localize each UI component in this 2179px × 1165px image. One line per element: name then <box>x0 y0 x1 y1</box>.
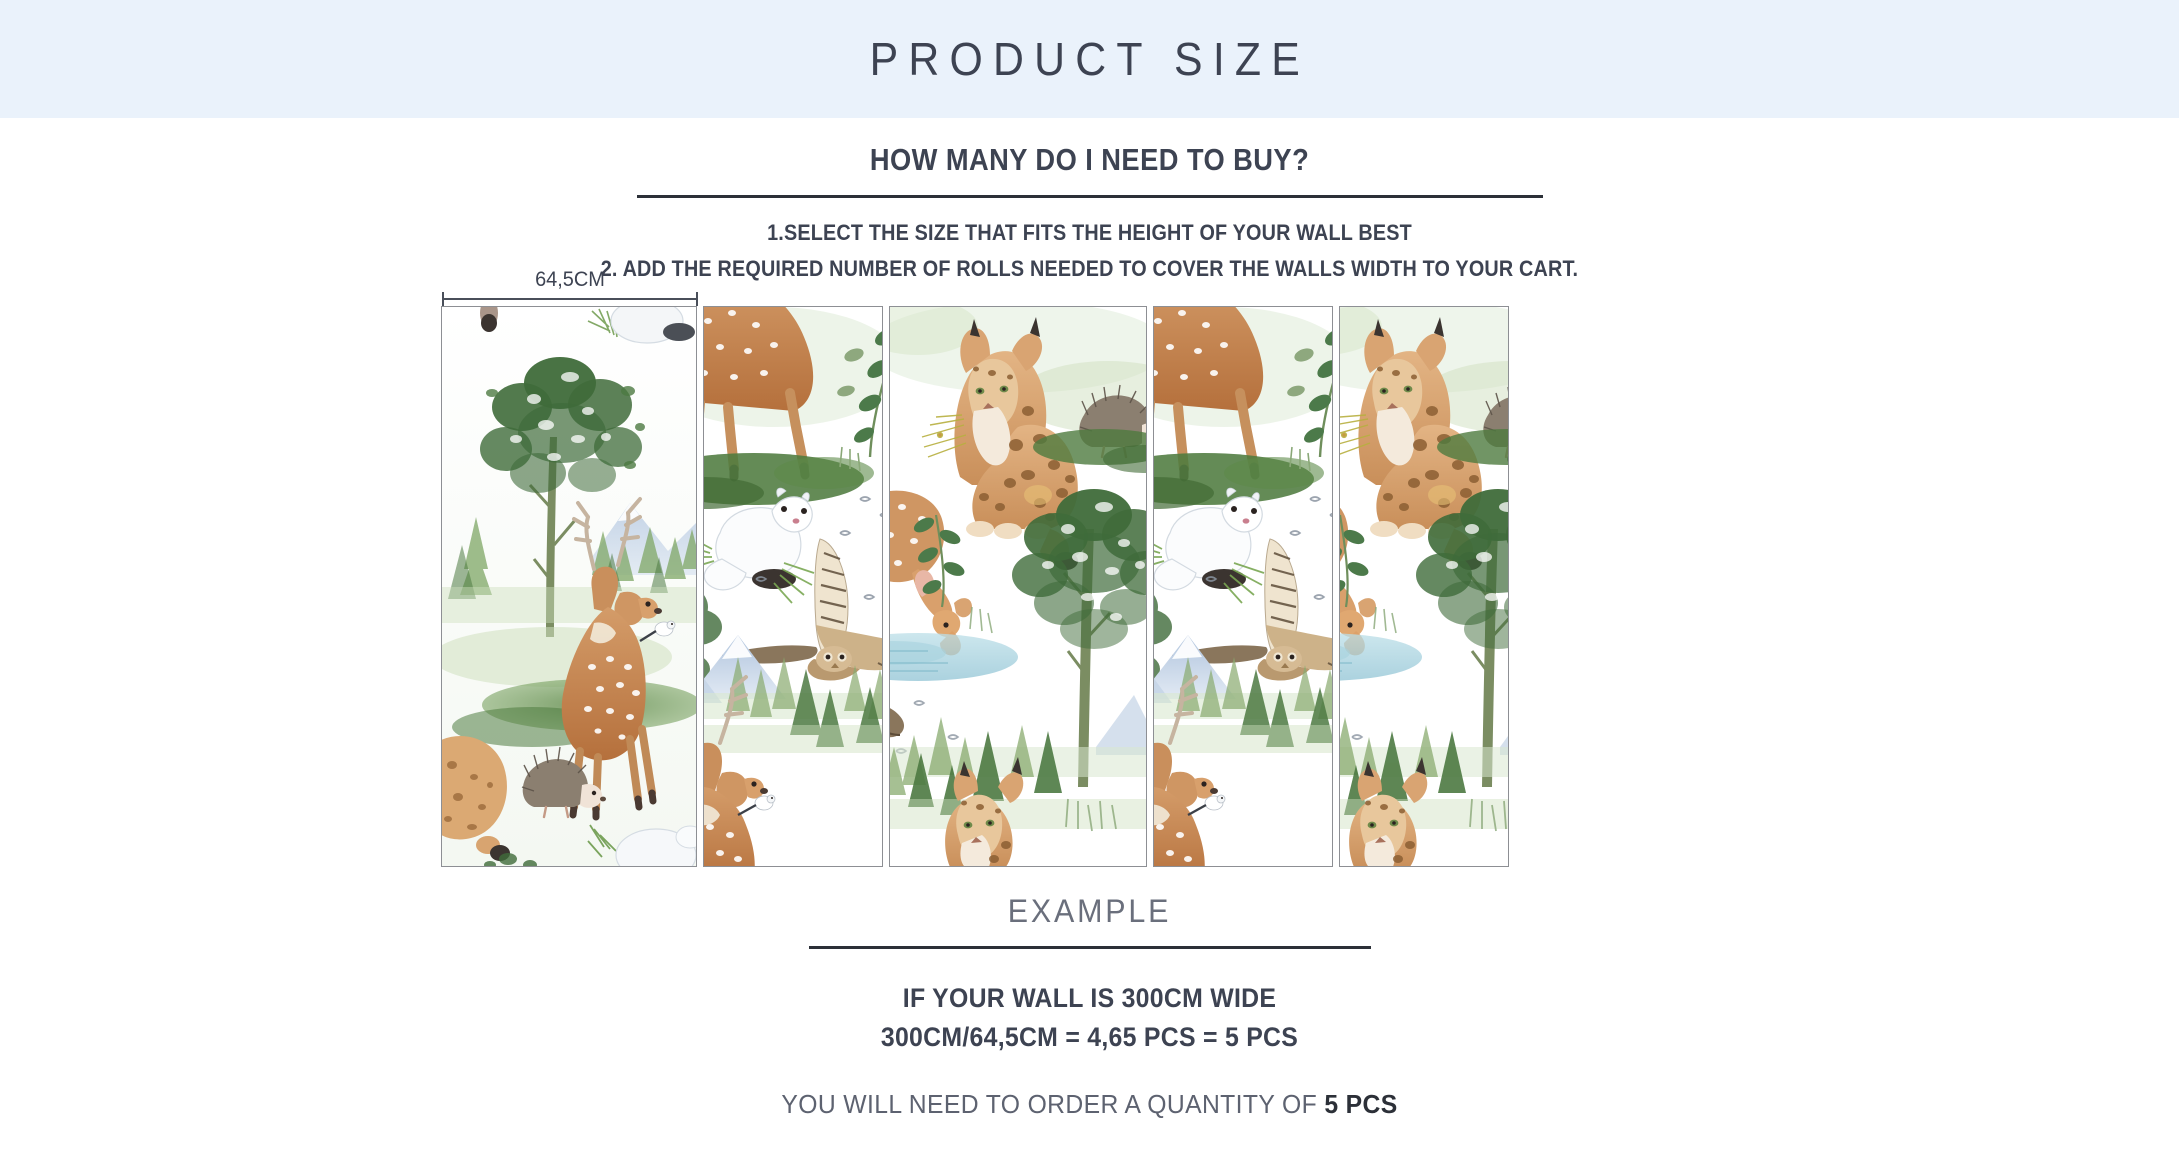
example-order-prefix: YOU WILL NEED TO ORDER A QUANTITY OF <box>781 1089 1324 1119</box>
wallpaper-panel-strip <box>441 306 1735 867</box>
example-order-quantity-value: 5 PCS <box>1324 1089 1397 1119</box>
instructions-divider <box>637 195 1543 198</box>
wallpaper-panel[interactable] <box>889 306 1147 867</box>
wallpaper-art-panel-3 <box>889 307 1147 867</box>
example-divider <box>809 946 1371 949</box>
dimension-bar <box>442 298 698 300</box>
instructions-section: HOW MANY DO I NEED TO BUY? 1.SELECT THE … <box>0 118 2179 282</box>
instructions-step-1: 1.SELECT THE SIZE THAT FITS THE HEIGHT O… <box>109 220 2070 246</box>
example-order-quantity-line: YOU WILL NEED TO ORDER A QUANTITY OF 5 P… <box>54 1089 2124 1120</box>
header-band: PRODUCT SIZE <box>0 0 2179 118</box>
wallpaper-panel[interactable] <box>441 306 697 867</box>
wallpaper-art-panel-2 <box>703 307 883 867</box>
roll-width-label: 64,5CM <box>448 268 691 292</box>
example-wall-width-line: IF YOUR WALL IS 300CM WIDE <box>87 983 2092 1014</box>
wallpaper-art-panel-4 <box>1153 307 1333 867</box>
wallpaper-panel[interactable] <box>1153 306 1333 867</box>
instructions-heading: HOW MANY DO I NEED TO BUY? <box>131 142 2049 178</box>
wallpaper-art-panel-1 <box>442 307 697 867</box>
example-section: EXAMPLE IF YOUR WALL IS 300CM WIDE 300CM… <box>0 893 2179 1120</box>
dimension-tick-right <box>696 292 698 306</box>
example-calculation-line: 300CM/64,5CM = 4,65 PCS = 5 PCS <box>87 1022 2092 1053</box>
wallpaper-panel[interactable] <box>1339 306 1509 867</box>
wallpaper-panel[interactable] <box>703 306 883 867</box>
page-title: PRODUCT SIZE <box>869 32 1309 86</box>
example-heading: EXAMPLE <box>54 893 2124 930</box>
dimension-line <box>442 292 698 306</box>
instructions-step-2: 2. ADD THE REQUIRED NUMBER OF ROLLS NEED… <box>109 256 2070 282</box>
wallpaper-art-panel-5 <box>1339 307 1509 867</box>
